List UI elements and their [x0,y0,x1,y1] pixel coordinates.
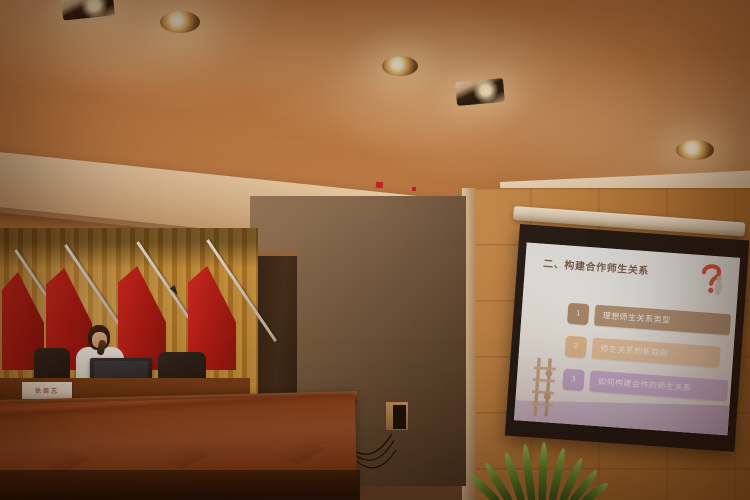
nameplate-text: 徐周志 [35,386,59,395]
nameplate: 徐周志 [22,382,72,399]
beam-marker-icon [376,182,384,189]
lecture-hall-photo: 徐周志 二、构建合作师生关系 1 理想师生关系类型 2 [0,0,750,500]
plant-leaf [538,442,548,500]
slide-row-2-badge: 2 [565,335,587,357]
projector-screen: 二、构建合作师生关系 1 理想师生关系类型 2 师生关系的新取向 [505,224,750,452]
ceiling-light-5 [676,140,714,160]
plant-leaf [521,444,536,500]
rail-diamond-ornament [152,439,211,470]
slide-row-1-number: 1 [576,309,581,317]
bamboo-ladder-icon [530,357,560,417]
ceiling-light-3 [382,56,418,76]
rail-diamond-ornament [268,434,327,465]
slide-row-2-number: 2 [573,342,578,350]
snake-plant [486,440,616,500]
question-mark-icon [697,261,725,297]
slide-row-3-number: 3 [571,375,576,383]
ceiling-light-2 [160,11,200,33]
beam-marker-icon-2 [412,187,416,191]
slide-row-3-badge: 3 [562,368,584,390]
slide-row-1-badge: 1 [567,302,589,324]
ceiling-light-4 [455,78,505,106]
rail-dark-shadow [0,470,360,500]
slide-canvas: 二、构建合作师生关系 1 理想师生关系类型 2 师生关系的新取向 [514,243,740,436]
